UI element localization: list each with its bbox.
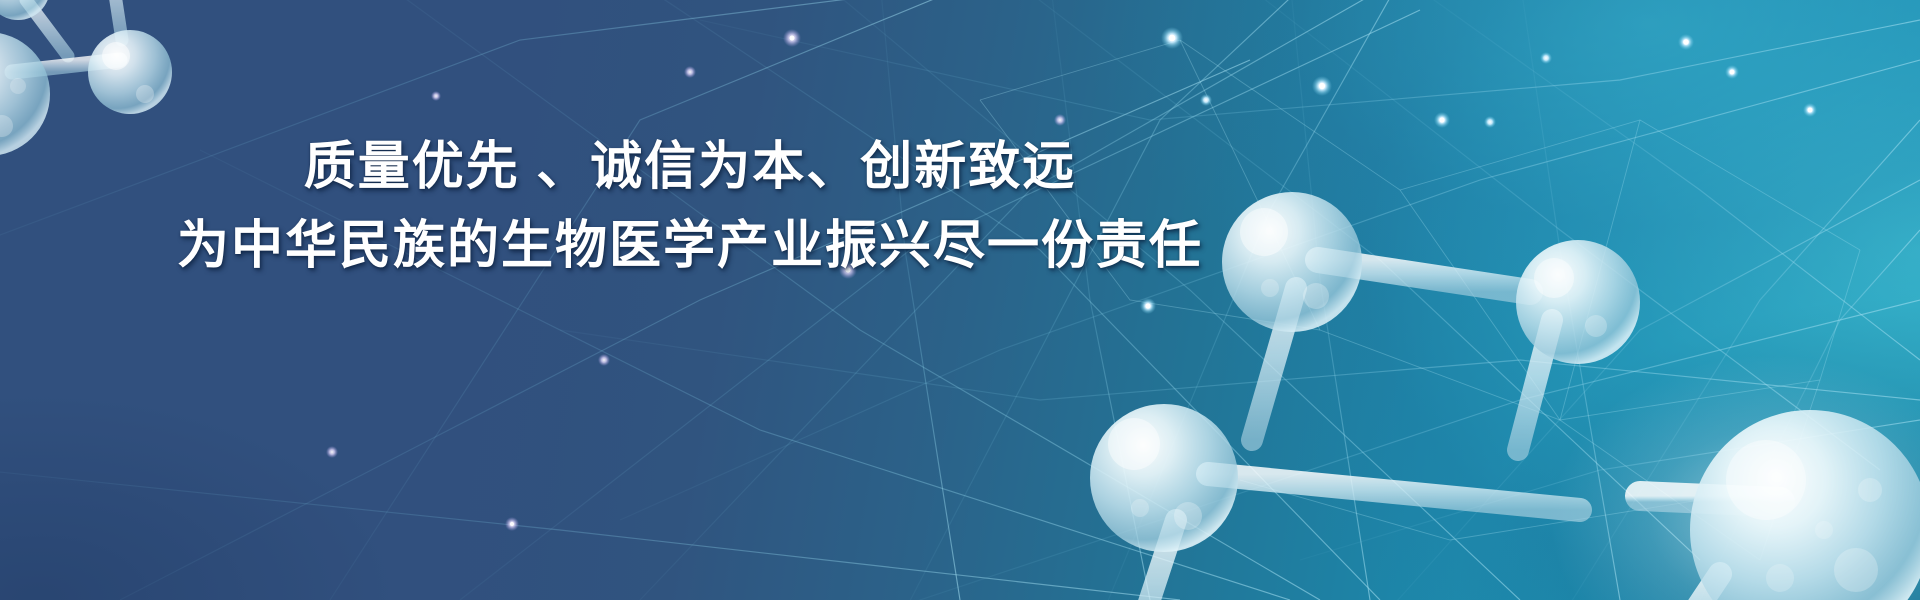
molecule-right-lower-icon bbox=[1080, 370, 1920, 600]
slogan-block: 质量优先 、诚信为本、创新致远 为中华民族的生物医学产业振兴尽一份责任 bbox=[0, 128, 1380, 286]
promo-banner: 质量优先 、诚信为本、创新致远 为中华民族的生物医学产业振兴尽一份责任 bbox=[0, 0, 1920, 600]
slogan-line-1: 质量优先 、诚信为本、创新致远 bbox=[0, 128, 1380, 207]
slogan-line-2: 为中华民族的生物医学产业振兴尽一份责任 bbox=[0, 207, 1380, 286]
